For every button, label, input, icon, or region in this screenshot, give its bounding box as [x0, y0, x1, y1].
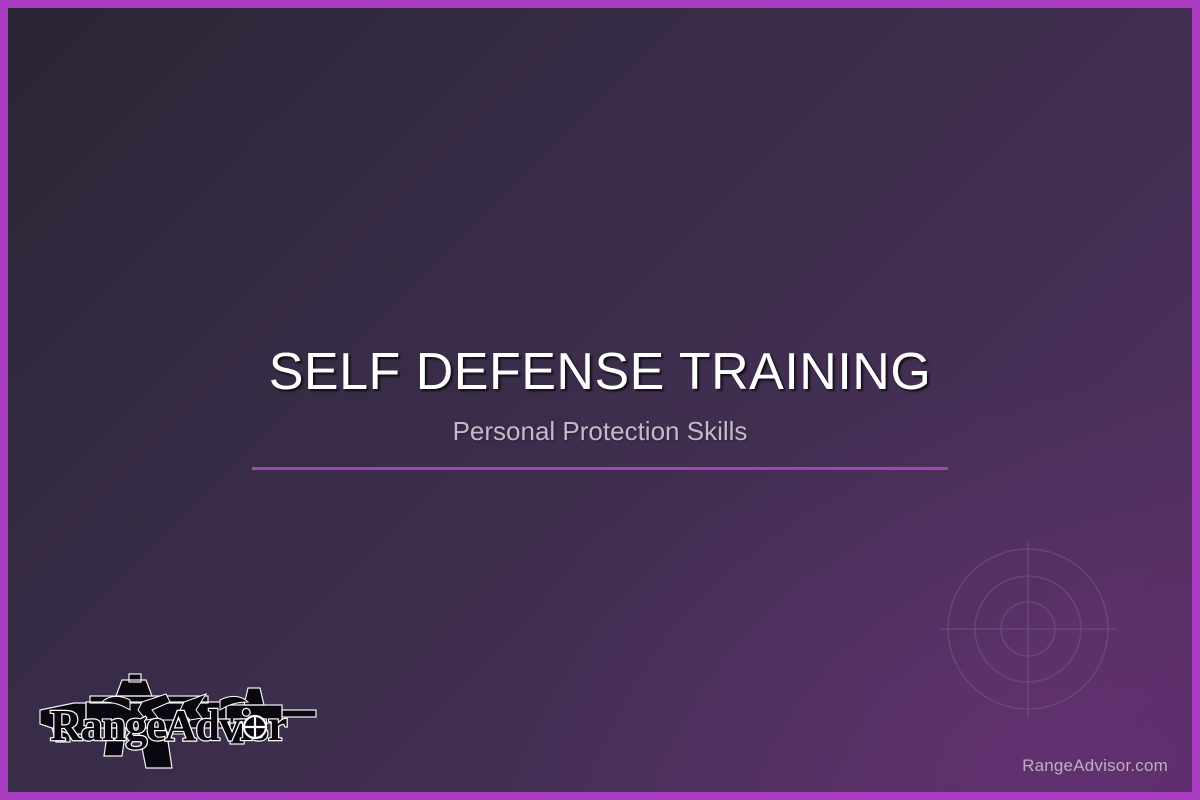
svg-text:r: r: [268, 701, 288, 750]
page-title: SELF DEFENSE TRAINING: [8, 344, 1192, 400]
scope-reticle-icon: [244, 716, 266, 738]
crosshair-target-icon: [932, 533, 1124, 725]
title-block: SELF DEFENSE TRAINING Personal Protectio…: [8, 344, 1192, 470]
page-subtitle: Personal Protection Skills: [8, 416, 1192, 447]
slide-canvas: SELF DEFENSE TRAINING Personal Protectio…: [8, 8, 1192, 792]
svg-text:RangeAdvis: RangeAdvis: [50, 701, 268, 750]
presentation-slide: SELF DEFENSE TRAINING Personal Protectio…: [0, 0, 1200, 800]
brand-logo: RangeAdvis r: [34, 672, 322, 782]
title-divider: [252, 467, 948, 470]
footer-website-url: RangeAdvisor.com: [1022, 756, 1168, 776]
